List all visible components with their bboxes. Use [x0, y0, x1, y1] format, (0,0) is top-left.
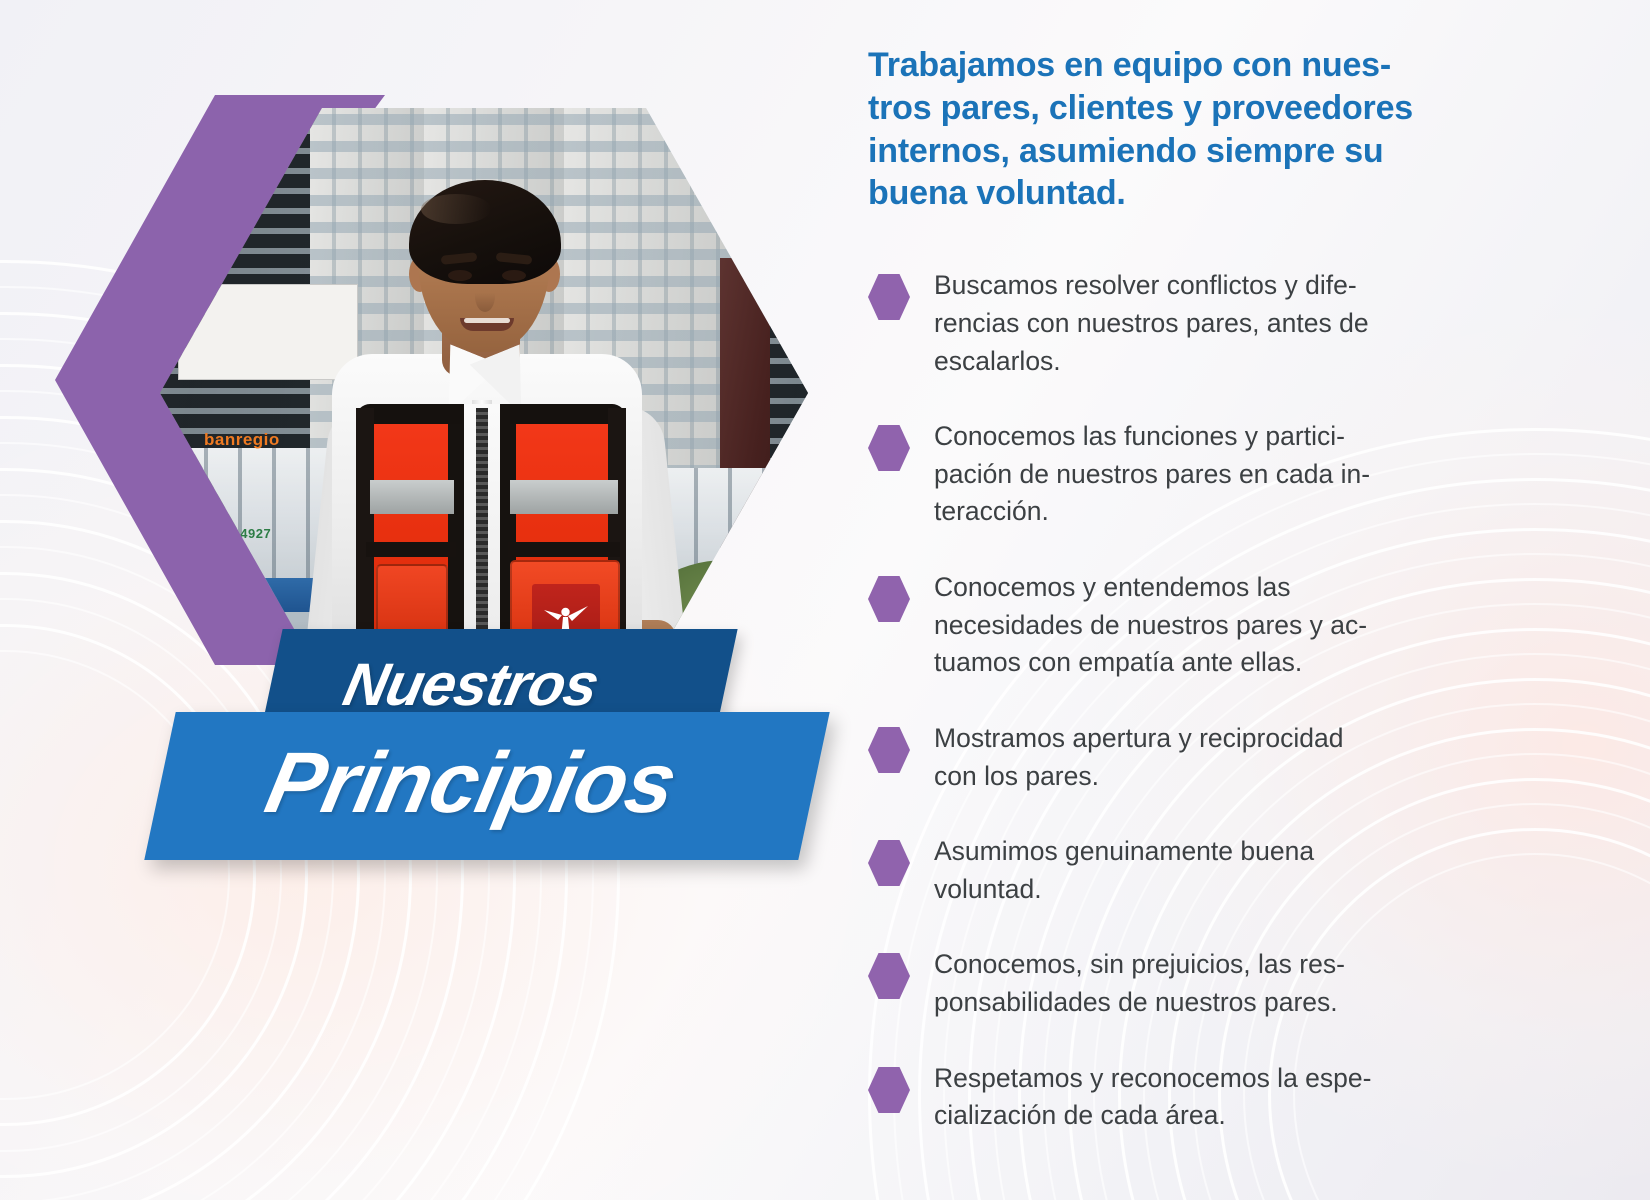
principle-text-line: cialización de cada área.	[934, 1097, 1504, 1135]
principle-text-line: Respetamos y reconocemos la espe-	[934, 1060, 1504, 1098]
photo-vest-armhole-left	[356, 408, 374, 660]
principle-item: Mostramos apertura y reciprocidadcon los…	[868, 720, 1504, 795]
hexagon-bullet-icon	[868, 575, 910, 623]
principle-text-line: Conocemos y entendemos las	[934, 569, 1504, 607]
principle-text: Mostramos apertura y reciprocidadcon los…	[934, 720, 1504, 795]
photo-vest-band-right	[508, 542, 620, 557]
principle-text-line: tuamos con empatía ante ellas.	[934, 644, 1504, 682]
banner-title-line1: Nuestros	[338, 650, 605, 719]
principle-item: Conocemos, sin prejuicios, las res-ponsa…	[868, 946, 1504, 1021]
banner-title-line2: Principios	[257, 734, 684, 833]
principle-text: Conocemos, sin prejuicios, las res-ponsa…	[934, 946, 1504, 1021]
principle-text: Conocemos y entendemos lasnecesidades de…	[934, 569, 1504, 682]
hexagon-bullet-icon	[868, 952, 910, 1000]
principle-text: Asumimos genuinamente buenavoluntad.	[934, 833, 1504, 908]
principle-text-line: teracción.	[934, 493, 1504, 531]
content-column: Trabajamos en equipo con nues-tros pares…	[868, 44, 1504, 1173]
principle-text-line: ponsabilidades de nuestros pares.	[934, 984, 1504, 1022]
principle-text-line: Asumimos genuinamente buena	[934, 833, 1504, 871]
photo-sign-banregio: banregio	[204, 430, 280, 450]
principle-text-line: voluntad.	[934, 871, 1504, 909]
principle-item: Conocemos las funciones y partici-pación…	[868, 418, 1504, 531]
principle-item: Buscamos resolver conflictos y dife-renc…	[868, 267, 1504, 380]
photo-reflective-stripe-right	[510, 480, 618, 514]
principle-text-line: Buscamos resolver conflictos y dife-	[934, 267, 1504, 305]
principle-text-line: pación de nuestros pares en cada in-	[934, 456, 1504, 494]
principle-text: Conocemos las funciones y partici-pación…	[934, 418, 1504, 531]
photo-vest-band-left	[366, 542, 456, 557]
headline-line: Trabajamos en equipo con nues-	[868, 44, 1504, 87]
headline-line: buena voluntad.	[868, 172, 1504, 215]
principle-text-line: rencias con nuestros pares, antes de	[934, 305, 1504, 343]
photo-nose	[475, 280, 495, 312]
hexagon-bullet-icon	[868, 726, 910, 774]
photo-eye-right	[502, 270, 526, 281]
principles-list: Buscamos resolver conflictos y dife-renc…	[868, 267, 1504, 1135]
principle-text-line: con los pares.	[934, 758, 1504, 796]
principle-text-line: escalarlos.	[934, 343, 1504, 381]
photo-eye-left	[448, 270, 472, 281]
principle-text: Respetamos y reconocemos la espe-cializa…	[934, 1060, 1504, 1135]
hexagon-bullet-icon	[868, 424, 910, 472]
principle-item: Respetamos y reconocemos la espe-cializa…	[868, 1060, 1504, 1135]
principle-item: Conocemos y entendemos lasnecesidades de…	[868, 569, 1504, 682]
headline-line: tros pares, clientes y proveedores	[868, 87, 1504, 130]
principle-text: Buscamos resolver conflictos y dife-renc…	[934, 267, 1504, 380]
headline-text: Trabajamos en equipo con nues-tros pares…	[868, 44, 1504, 215]
headline-line: internos, asumiendo siempre su	[868, 130, 1504, 173]
principle-text-line: Mostramos apertura y reciprocidad	[934, 720, 1504, 758]
hexagon-bullet-icon	[868, 273, 910, 321]
principle-item: Asumimos genuinamente buenavoluntad.	[868, 833, 1504, 908]
principle-text-line: necesidades de nuestros pares y ac-	[934, 607, 1504, 645]
principle-text-line: Conocemos, sin prejuicios, las res-	[934, 946, 1504, 984]
photo-reflective-stripe-left	[370, 480, 454, 514]
principle-text-line: Conocemos las funciones y partici-	[934, 418, 1504, 456]
hexagon-bullet-icon	[868, 839, 910, 887]
photo-teeth	[464, 318, 510, 323]
hexagon-bullet-icon	[868, 1066, 910, 1114]
